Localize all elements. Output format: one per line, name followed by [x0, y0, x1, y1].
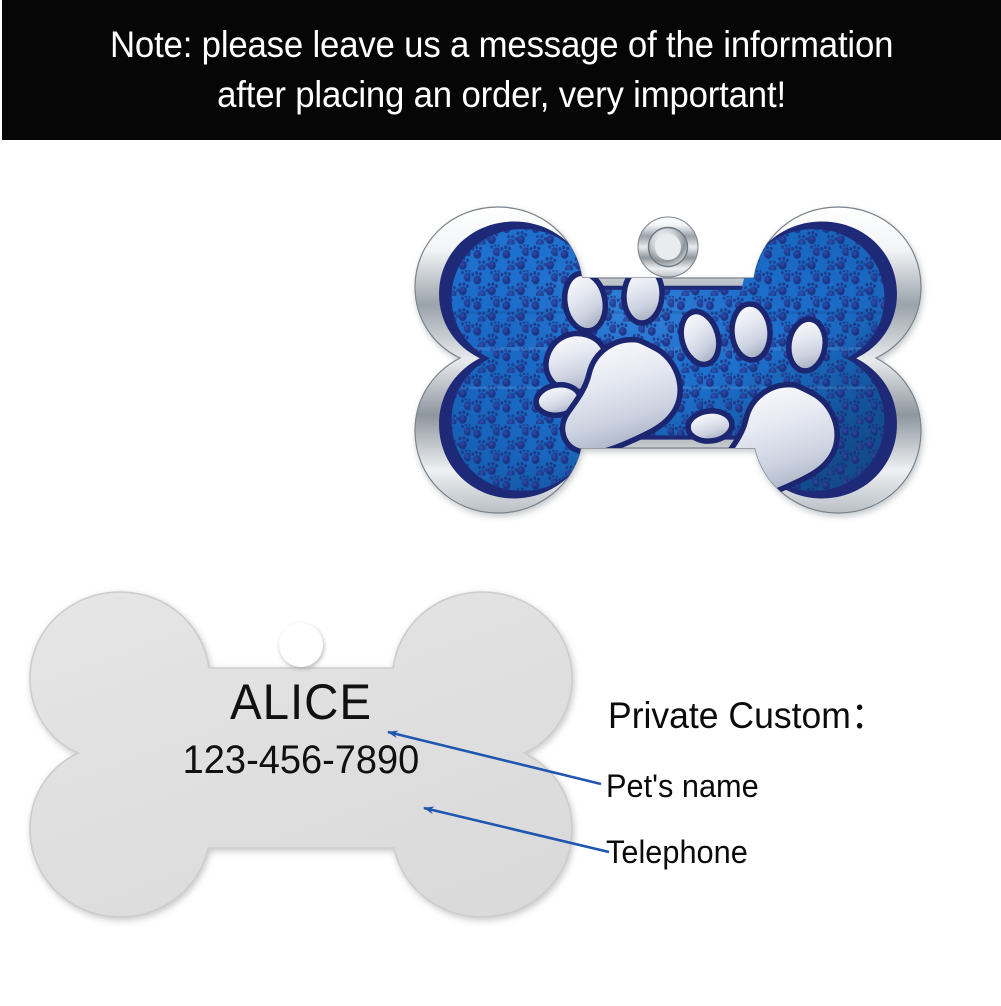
engraved-pet-name: ALICE	[32, 675, 570, 729]
engraved-telephone: 123-456-7890	[32, 738, 570, 782]
notice-banner: Note: please leave us a message of the i…	[2, 0, 1001, 140]
notice-line-2: after placing an order, very important!	[217, 70, 786, 120]
notice-line-1: Note: please leave us a message of the i…	[110, 20, 893, 70]
blue-enamel-bone-tag	[403, 195, 933, 535]
blue-tag-hole	[638, 217, 698, 277]
gray-tag-hole	[279, 623, 323, 667]
callout-label-pet-name: Pet's name	[606, 767, 759, 805]
product-image-stage: ALICE 123-456-7890 Private Custom： Pet's…	[0, 140, 1001, 1001]
callout-label-telephone: Telephone	[606, 833, 748, 871]
callout-title: Private Custom：	[608, 695, 886, 737]
gray-engraved-bone-tag: ALICE 123-456-7890	[18, 582, 584, 927]
